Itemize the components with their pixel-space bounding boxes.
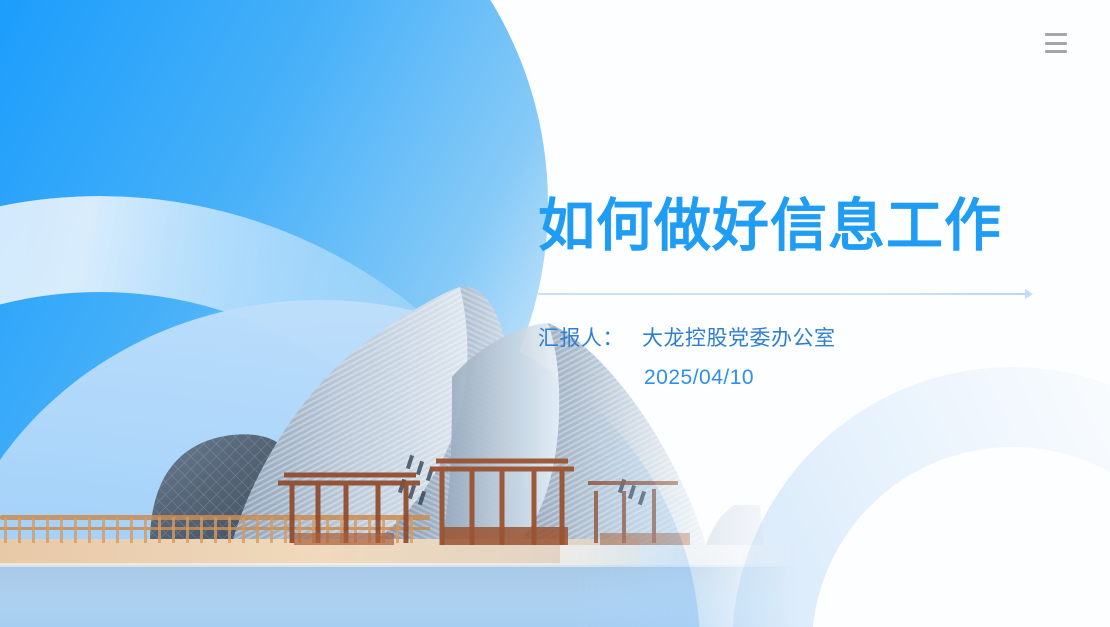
page-title: 如何做好信息工作 [538, 196, 1038, 258]
menu-bar-2 [1045, 42, 1067, 45]
presentation-date: 2025/04/10 [538, 366, 1038, 390]
presentation-slide: 如何做好信息工作 汇报人：大龙控股党委办公室 2025/04/10 [0, 0, 1110, 627]
byline: 汇报人：大龙控股党委办公室 [538, 322, 1038, 352]
byline-value: 大龙控股党委办公室 [642, 327, 836, 350]
title-block: 如何做好信息工作 汇报人：大龙控股党委办公室 2025/04/10 [538, 196, 1038, 390]
arrow-head-icon [1025, 289, 1033, 299]
hamburger-menu-icon[interactable] [1045, 33, 1067, 53]
divider-line [538, 293, 1027, 295]
byline-label: 汇报人： [538, 327, 624, 350]
menu-bar-3 [1045, 50, 1067, 53]
arrow-divider [538, 289, 1033, 299]
menu-bar-1 [1045, 33, 1067, 36]
